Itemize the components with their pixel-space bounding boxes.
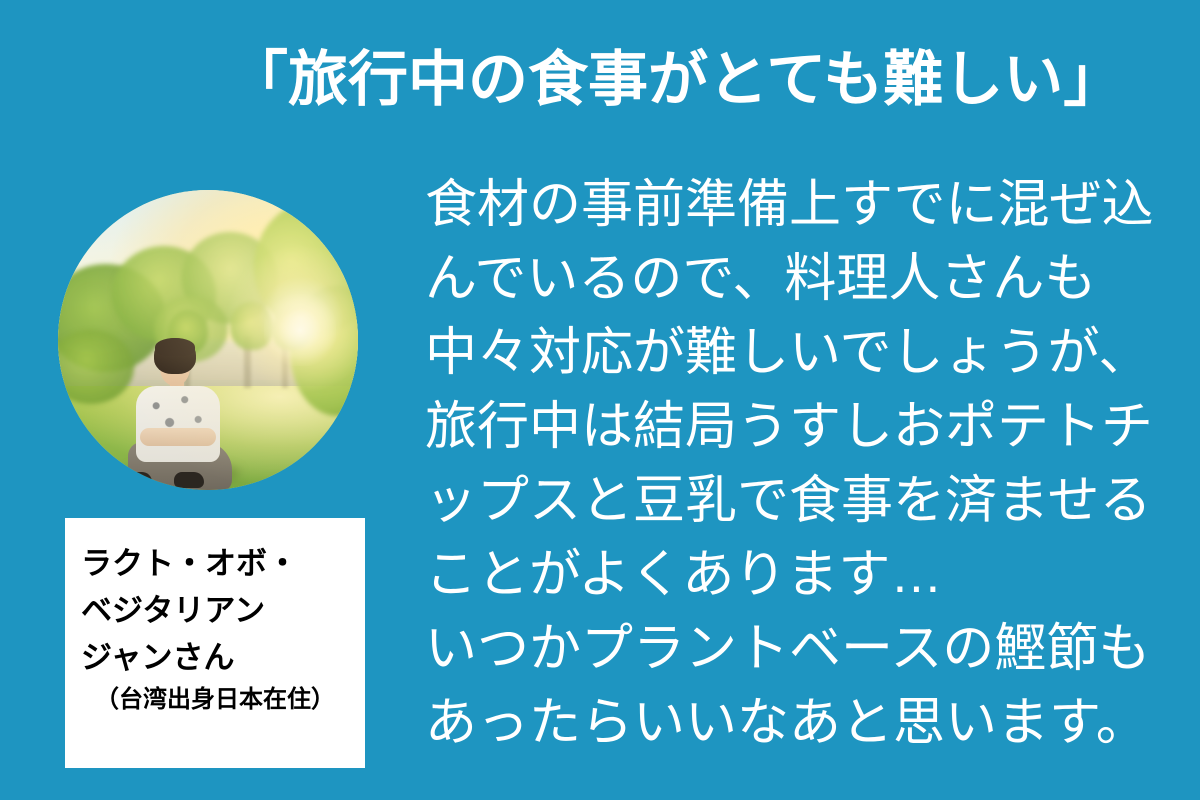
name-line-1: ラクト・オボ・ (81, 540, 349, 587)
quote-line: いつかプラントベースの鰹節も (425, 612, 1187, 686)
quote-line: 食材の事前準備上すでに混ぜ込 (425, 168, 1187, 242)
name-card: ラクト・オボ・ ベジタリアン ジャンさん （台湾出身日本在住） (65, 518, 365, 768)
quote-card: 「旅行中の食事がとても難しい」 ラクト・オボ・ ベ (0, 0, 1200, 800)
quote-text: 食材の事前準備上すでに混ぜ込 んでいるので、料理人さんも 中々対応が難しいでしょ… (425, 168, 1187, 760)
name-origin-label: （台湾出身日本在住） (81, 681, 349, 719)
quote-line: ことがよくあります… (425, 538, 1187, 612)
quote-line: 中々対応が難しいでしょうが、 (425, 316, 1187, 390)
quote-line: あったらいいなあと思います。 (425, 686, 1187, 760)
quote-line: 旅行中は結局うすしおポテトチ (425, 390, 1187, 464)
photo-warm-overlay (58, 190, 358, 490)
name-line-2: ベジタリアン (81, 587, 349, 634)
quote-line: ップスと豆乳で食事を済ませる (425, 464, 1187, 538)
avatar (58, 190, 358, 490)
quote-line: んでいるので、料理人さんも (425, 242, 1187, 316)
name-line-3: ジャンさん (81, 634, 349, 681)
page-title: 「旅行中の食事がとても難しい」 (228, 28, 1188, 132)
